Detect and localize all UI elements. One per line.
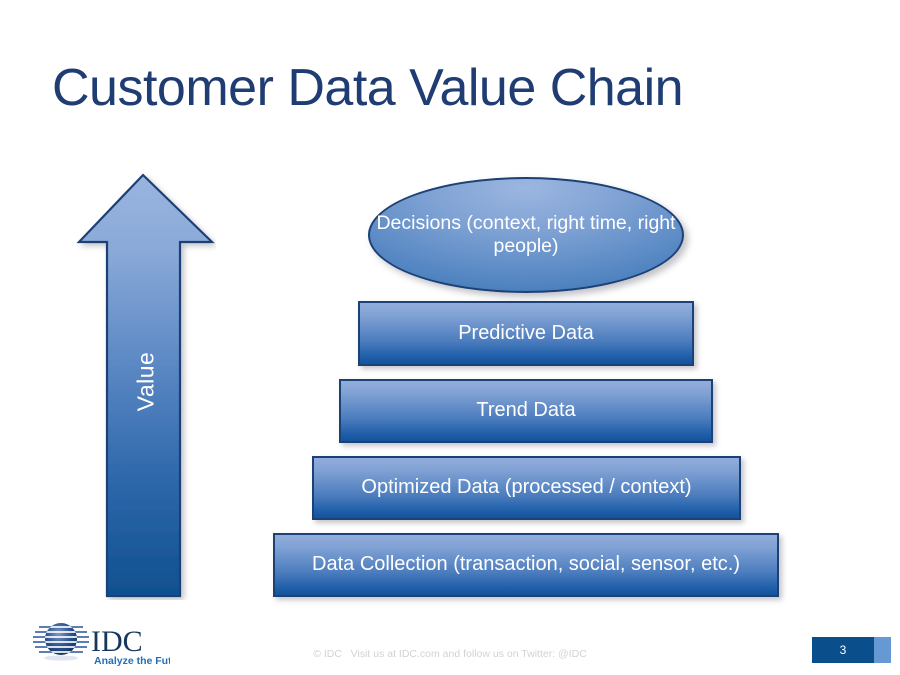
page-title: Customer Data Value Chain: [52, 57, 683, 119]
chart-level-label: Optimized Data (processed / context): [361, 476, 691, 500]
chart-level-data-collection[interactable]: Data Collection (transaction, social, se…: [273, 533, 779, 597]
idc-globe-icon: IDC Analyze the Future: [30, 618, 170, 668]
chart-level-trend-data[interactable]: Trend Data: [339, 379, 713, 443]
idc-logo: IDC Analyze the Future: [30, 618, 170, 668]
footer-note: © IDC Visit us at IDC.com and follow us …: [0, 648, 900, 660]
chart-level-label: Decisions (context, right time, right pe…: [370, 212, 682, 258]
chart-level-label: Trend Data: [476, 399, 575, 423]
chart-level-optimized-data[interactable]: Optimized Data (processed / context): [312, 456, 741, 520]
up-arrow-icon: [76, 172, 216, 600]
page-number-accent-block: [874, 637, 891, 663]
chart-level-predictive-data[interactable]: Predictive Data: [358, 301, 694, 366]
value-arrow: Value: [76, 172, 216, 600]
page-number: 3: [840, 643, 847, 657]
page-number-badge: 3: [812, 637, 874, 663]
chart-level-decisions[interactable]: Decisions (context, right time, right pe…: [368, 177, 684, 293]
chart-level-label: Data Collection (transaction, social, se…: [312, 553, 740, 577]
slide-canvas: Customer Data Value Chain Value: [0, 0, 900, 675]
chart-level-label: Predictive Data: [458, 322, 594, 346]
